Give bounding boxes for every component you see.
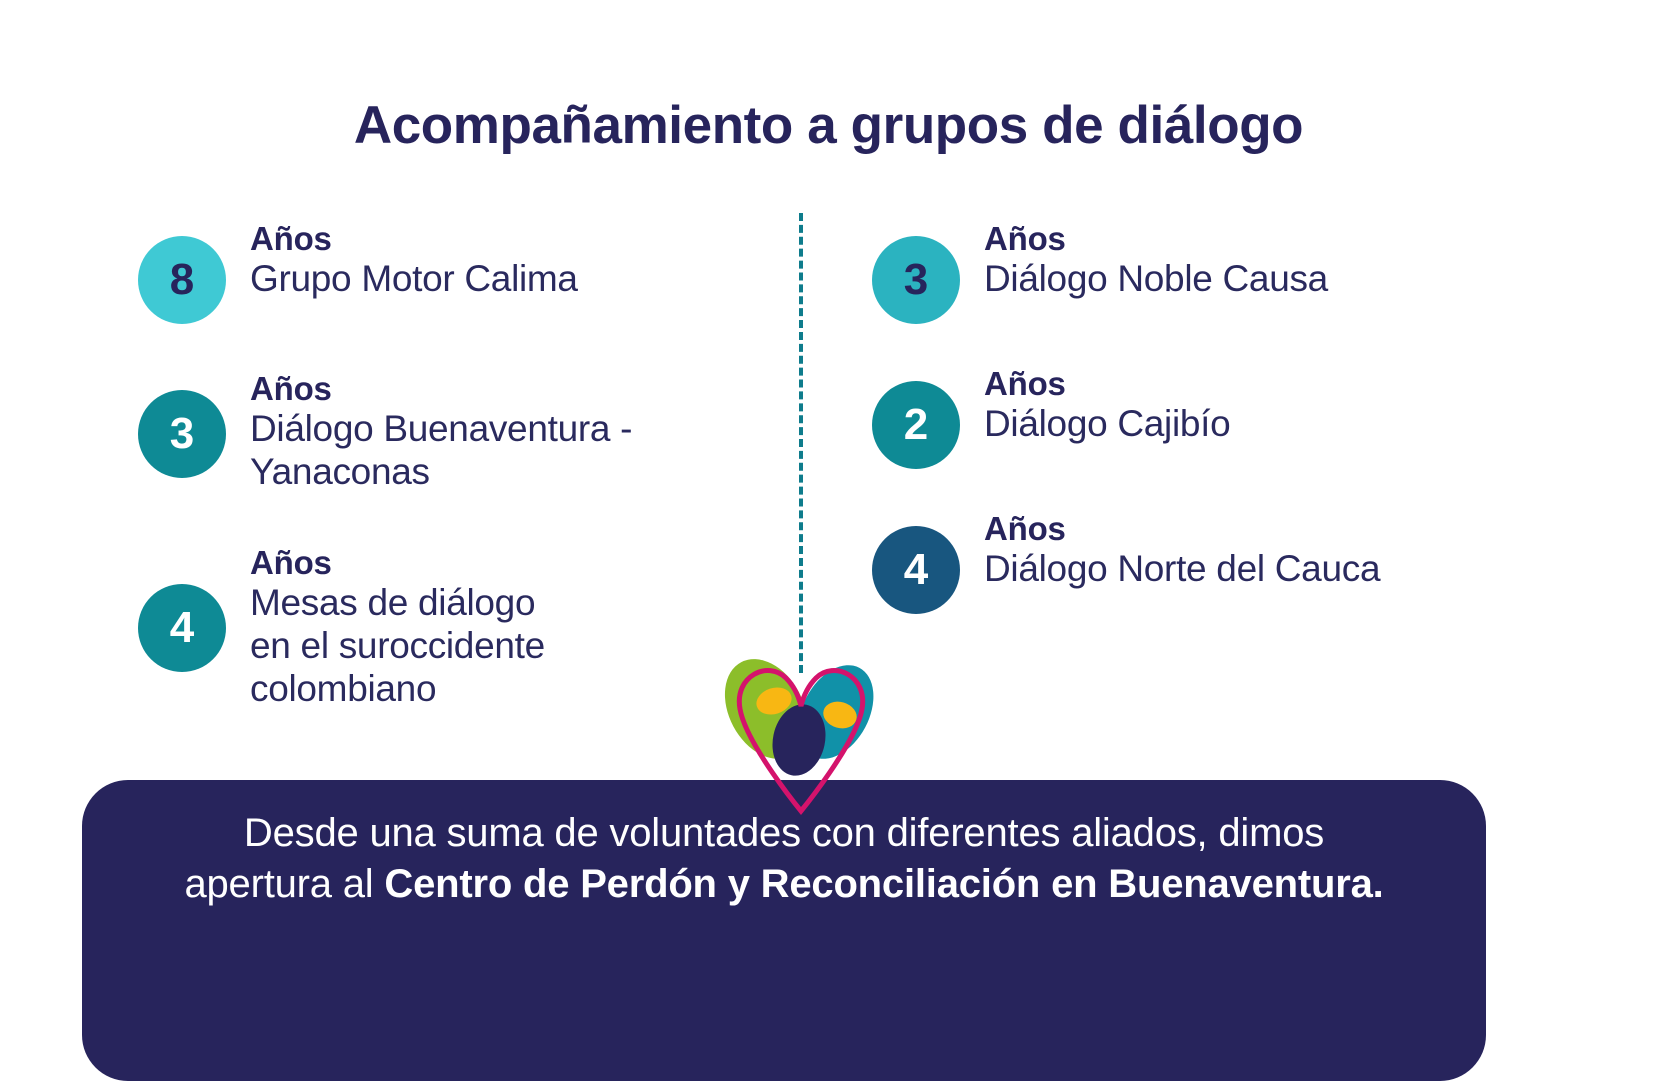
years-label: Años bbox=[984, 365, 1512, 403]
list-item: 3 Años Diálogo Noble Causa bbox=[872, 218, 1512, 318]
group-name: Grupo Motor Calima bbox=[250, 258, 758, 301]
list-item-body: Años Diálogo Buenaventura - Yanaconas bbox=[250, 368, 758, 494]
group-name: Mesas de diálogo en el suroccidente colo… bbox=[250, 582, 758, 711]
list-item-body: Años Diálogo Noble Causa bbox=[984, 218, 1512, 301]
group-name: Diálogo Noble Causa bbox=[984, 258, 1512, 301]
page-title: Acompañamiento a grupos de diálogo bbox=[0, 95, 1657, 156]
list-item-body: Años Grupo Motor Calima bbox=[250, 218, 758, 301]
years-badge: 8 bbox=[138, 236, 226, 324]
years-label: Años bbox=[250, 544, 758, 582]
years-label: Años bbox=[250, 220, 758, 258]
years-badge: 3 bbox=[872, 236, 960, 324]
banner-line-2: apertura al Centro de Perdón y Reconcili… bbox=[122, 859, 1446, 910]
years-badge: 3 bbox=[138, 390, 226, 478]
infographic-poster: Acompañamiento a grupos de diálogo 8 Año… bbox=[0, 0, 1657, 1081]
banner-line-2-prefix: apertura al bbox=[184, 862, 384, 906]
years-badge: 2 bbox=[872, 381, 960, 469]
list-item-body: Años Mesas de diálogo en el suroccidente… bbox=[250, 544, 758, 711]
vertical-dashed-divider bbox=[799, 213, 803, 673]
list-item: 4 Años Diálogo Norte del Cauca bbox=[872, 508, 1512, 608]
list-item: 8 Años Grupo Motor Calima bbox=[138, 218, 758, 318]
group-name: Diálogo Cajibío bbox=[984, 403, 1512, 446]
list-item: 4 Años Mesas de diálogo en el surocciden… bbox=[138, 544, 758, 711]
years-label: Años bbox=[984, 220, 1512, 258]
list-item-body: Años Diálogo Cajibío bbox=[984, 363, 1512, 446]
years-badge: 4 bbox=[138, 584, 226, 672]
years-label: Años bbox=[250, 370, 758, 408]
list-item: 3 Años Diálogo Buenaventura - Yanaconas bbox=[138, 368, 758, 494]
list-item: 2 Años Diálogo Cajibío bbox=[872, 363, 1512, 463]
group-name: Diálogo Buenaventura - Yanaconas bbox=[250, 408, 758, 494]
list-item-body: Años Diálogo Norte del Cauca bbox=[984, 508, 1512, 591]
group-name: Diálogo Norte del Cauca bbox=[984, 548, 1512, 591]
heart-logo bbox=[706, 636, 896, 826]
years-badge: 4 bbox=[872, 526, 960, 614]
banner-line-2-strong: Centro de Perdón y Reconciliación en Bue… bbox=[384, 862, 1383, 906]
years-label: Años bbox=[984, 510, 1512, 548]
